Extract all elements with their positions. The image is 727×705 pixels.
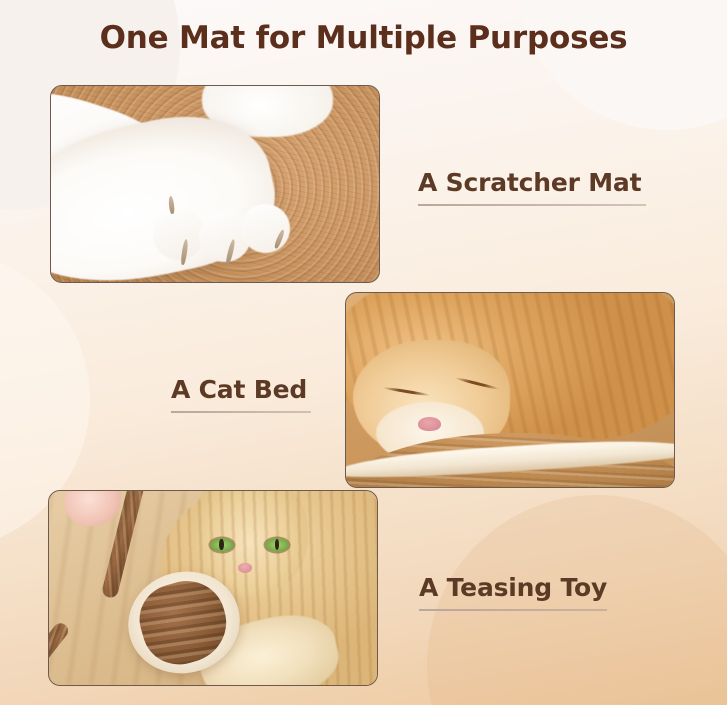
photo-teasing-toy — [48, 490, 378, 686]
product-infographic: One Mat for Multiple Purposes A Scratche… — [0, 0, 727, 705]
caption-teasing-toy: A Teasing Toy — [419, 573, 607, 611]
caption-scratcher-mat: A Scratcher Mat — [418, 168, 646, 206]
caption-cat-bed: A Cat Bed — [171, 375, 311, 413]
caption-cat-bed-label: A Cat Bed — [171, 375, 311, 404]
caption-underline — [418, 204, 646, 206]
caption-underline — [171, 411, 311, 413]
teasing-toy-photo-content — [49, 491, 377, 685]
cat-bed-photo-content — [346, 293, 674, 487]
cat-eye-left — [210, 538, 234, 552]
cat-nose — [238, 563, 252, 573]
paw-toe — [153, 208, 205, 261]
photo-scratcher-mat — [50, 85, 380, 283]
photo-cat-bed — [345, 292, 675, 488]
page-title: One Mat for Multiple Purposes — [0, 20, 727, 56]
paw-toe — [241, 204, 290, 253]
scratcher-photo-content — [51, 86, 379, 282]
caption-scratcher-mat-label: A Scratcher Mat — [418, 168, 646, 197]
caption-teasing-toy-label: A Teasing Toy — [419, 573, 607, 602]
caption-underline — [419, 609, 607, 611]
cat-eye-right — [265, 538, 289, 552]
cat-nose — [418, 417, 441, 431]
